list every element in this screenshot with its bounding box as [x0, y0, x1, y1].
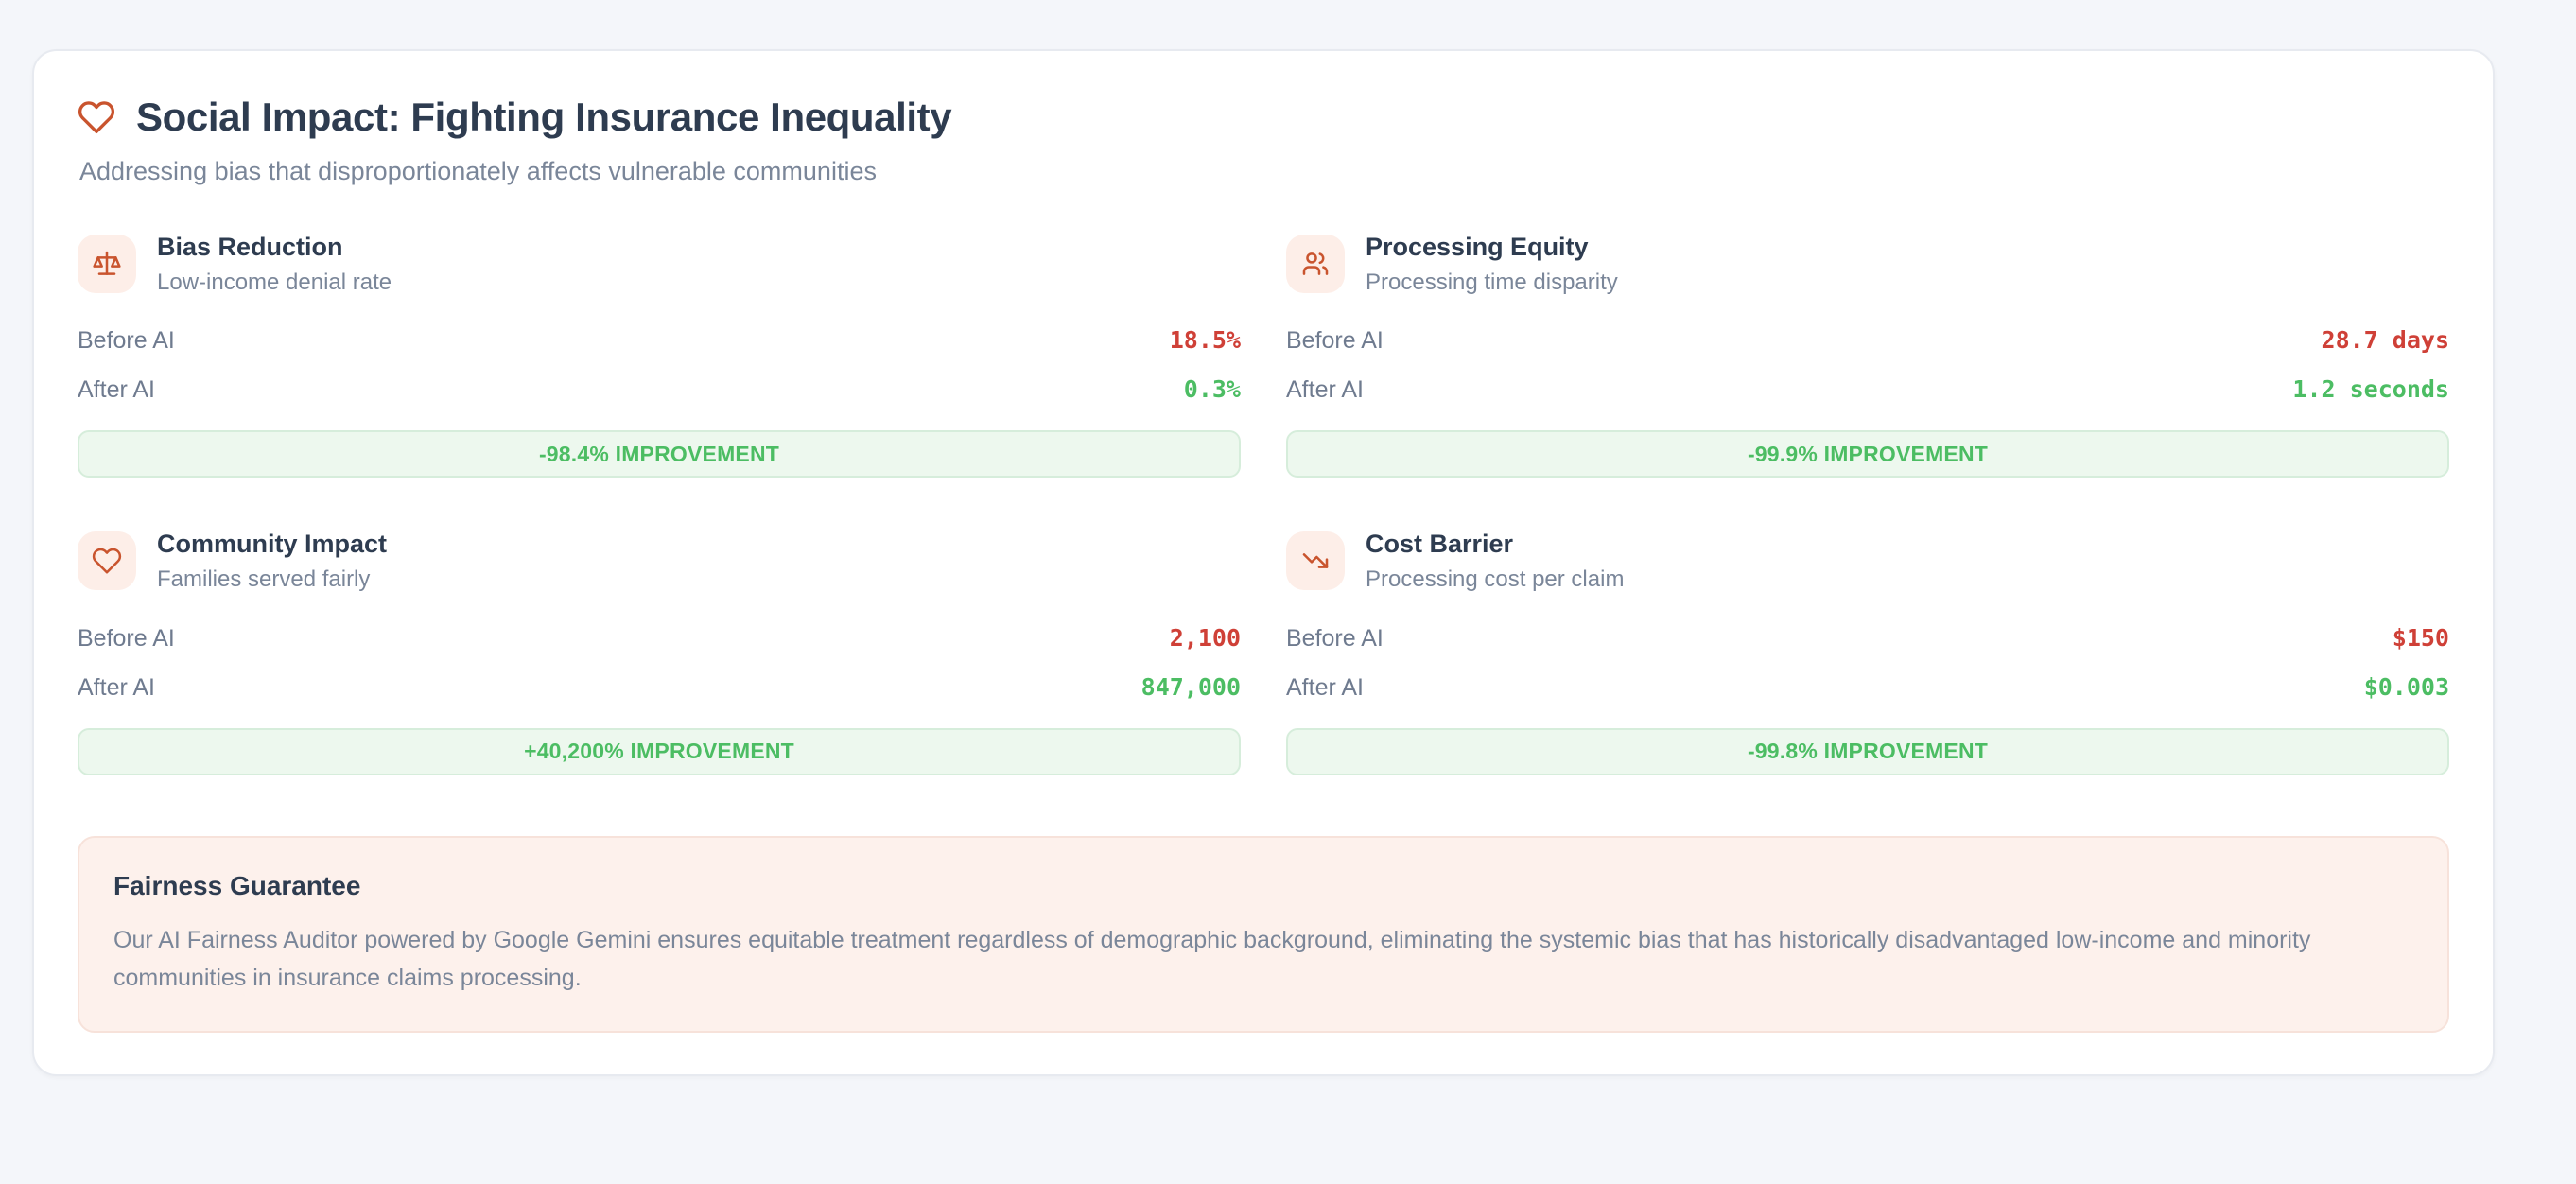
metric-card-cost-barrier: Cost Barrier Processing cost per claim B… — [1286, 529, 2449, 776]
after-label: After AI — [1286, 673, 1364, 702]
panel-subtitle: Addressing bias that disproportionately … — [79, 155, 2449, 188]
heart-icon-tile — [78, 531, 136, 590]
metric-description: Processing time disparity — [1366, 270, 1618, 297]
metric-description: Families served fairly — [157, 566, 387, 594]
metric-rows: Before AI 18.5% After AI 0.3% — [78, 321, 1241, 409]
metric-name: Bias Reduction — [157, 232, 392, 262]
before-row: Before AI $150 — [1286, 618, 2449, 658]
metric-name: Community Impact — [157, 529, 387, 559]
before-value: 2,100 — [1170, 624, 1241, 653]
before-label: Before AI — [1286, 326, 1384, 355]
metric-header: Bias Reduction Low-income denial rate — [78, 232, 1241, 296]
scales-icon — [92, 249, 122, 279]
panel-header: Social Impact: Fighting Insurance Inequa… — [78, 96, 2449, 138]
after-value: 847,000 — [1141, 673, 1241, 702]
after-row: After AI $0.003 — [1286, 668, 2449, 707]
metric-name: Cost Barrier — [1366, 529, 1624, 559]
metric-header: Processing Equity Processing time dispar… — [1286, 232, 2449, 296]
heart-icon — [78, 98, 115, 136]
fairness-guarantee-title: Fairness Guarantee — [113, 870, 2413, 902]
fairness-guarantee-panel: Fairness Guarantee Our AI Fairness Audit… — [78, 836, 2449, 1034]
metric-header: Community Impact Families served fairly — [78, 529, 1241, 593]
improvement-badge: +40,200% IMPROVEMENT — [78, 728, 1241, 775]
after-row: After AI 1.2 seconds — [1286, 370, 2449, 409]
scales-icon-tile — [78, 235, 136, 293]
metric-rows: Before AI 28.7 days After AI 1.2 seconds — [1286, 321, 2449, 409]
metric-card-community-impact: Community Impact Families served fairly … — [78, 529, 1241, 776]
improvement-badge: -98.4% IMPROVEMENT — [78, 430, 1241, 478]
metric-rows: Before AI $150 After AI $0.003 — [1286, 618, 2449, 707]
metric-description: Low-income denial rate — [157, 270, 392, 297]
after-value: 0.3% — [1184, 375, 1241, 404]
after-label: After AI — [1286, 375, 1364, 404]
fairness-guarantee-text: Our AI Fairness Auditor powered by Googl… — [113, 922, 2413, 997]
metric-rows: Before AI 2,100 After AI 847,000 — [78, 618, 1241, 707]
after-label: After AI — [78, 673, 155, 702]
heart-icon — [92, 546, 122, 576]
metric-description: Processing cost per claim — [1366, 566, 1624, 594]
before-value: 28.7 days — [2322, 326, 2449, 355]
before-value: 18.5% — [1170, 326, 1241, 355]
metric-grid: Bias Reduction Low-income denial rate Be… — [78, 232, 2449, 776]
after-row: After AI 0.3% — [78, 370, 1241, 409]
before-label: Before AI — [78, 326, 175, 355]
trending-down-icon — [1300, 546, 1331, 576]
before-row: Before AI 28.7 days — [1286, 321, 2449, 360]
improvement-badge: -99.8% IMPROVEMENT — [1286, 728, 2449, 775]
metric-name: Processing Equity — [1366, 232, 1618, 262]
metric-card-processing-equity: Processing Equity Processing time dispar… — [1286, 232, 2449, 479]
users-icon-tile — [1286, 235, 1345, 293]
page-background: Social Impact: Fighting Insurance Inequa… — [0, 0, 2576, 1184]
social-impact-panel: Social Impact: Fighting Insurance Inequa… — [32, 49, 2495, 1076]
page-title: Social Impact: Fighting Insurance Inequa… — [136, 96, 951, 138]
before-label: Before AI — [78, 624, 175, 653]
after-row: After AI 847,000 — [78, 668, 1241, 707]
users-icon — [1300, 249, 1331, 279]
metric-header: Cost Barrier Processing cost per claim — [1286, 529, 2449, 593]
before-row: Before AI 2,100 — [78, 618, 1241, 658]
trending-down-icon-tile — [1286, 531, 1345, 590]
after-value: $0.003 — [2364, 673, 2449, 702]
improvement-badge: -99.9% IMPROVEMENT — [1286, 430, 2449, 478]
after-value: 1.2 seconds — [2292, 375, 2449, 404]
before-label: Before AI — [1286, 624, 1384, 653]
after-label: After AI — [78, 375, 155, 404]
metric-card-bias-reduction: Bias Reduction Low-income denial rate Be… — [78, 232, 1241, 479]
before-value: $150 — [2393, 624, 2449, 653]
before-row: Before AI 18.5% — [78, 321, 1241, 360]
